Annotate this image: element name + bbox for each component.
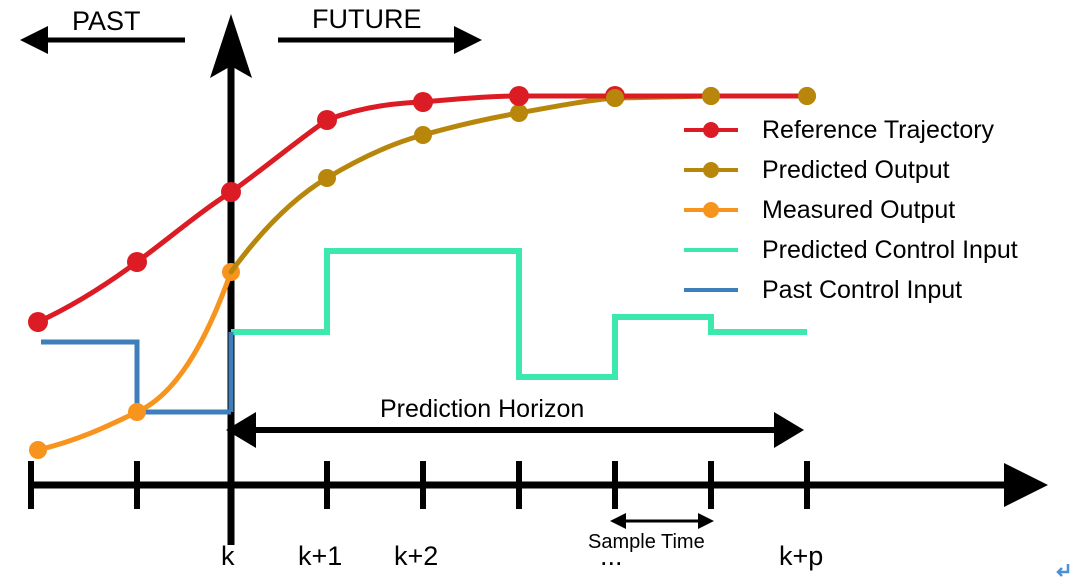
legend-label-predicted-output: Predicted Output <box>762 156 950 185</box>
legend-label-measured-output: Measured Output <box>762 196 955 225</box>
legend-swatch-reference-trajectory <box>684 122 738 138</box>
legend-label-reference-trajectory: Reference Trajectory <box>762 116 994 145</box>
x-axis <box>28 461 1048 509</box>
return-mark-icon <box>1058 564 1068 576</box>
series-predicted-control-input <box>231 251 807 412</box>
legend-swatches <box>684 122 738 290</box>
past-label: PAST <box>72 6 141 37</box>
sample-time-arrow <box>610 513 714 529</box>
x-tick-label-k-plus-2: k+2 <box>394 541 438 572</box>
x-tick-label-k: k <box>221 541 235 572</box>
x-tick-label-k-plus-1: k+1 <box>298 541 342 572</box>
x-tick-label-k-plus-p: k+p <box>779 541 823 572</box>
x-tick-label-ellipsis: ... <box>600 541 623 572</box>
legend-swatch-measured-output <box>684 202 738 218</box>
future-label: FUTURE <box>312 4 422 35</box>
legend-label-predicted-control-input: Predicted Control Input <box>762 236 1018 265</box>
legend-swatch-predicted-output <box>684 162 738 178</box>
mpc-diagram: PAST FUTURE Prediction Horizon Sample Ti… <box>0 0 1080 587</box>
legend-label-past-control-input: Past Control Input <box>762 276 962 305</box>
prediction-horizon-label: Prediction Horizon <box>380 395 584 424</box>
series-past-control-input <box>41 342 231 412</box>
